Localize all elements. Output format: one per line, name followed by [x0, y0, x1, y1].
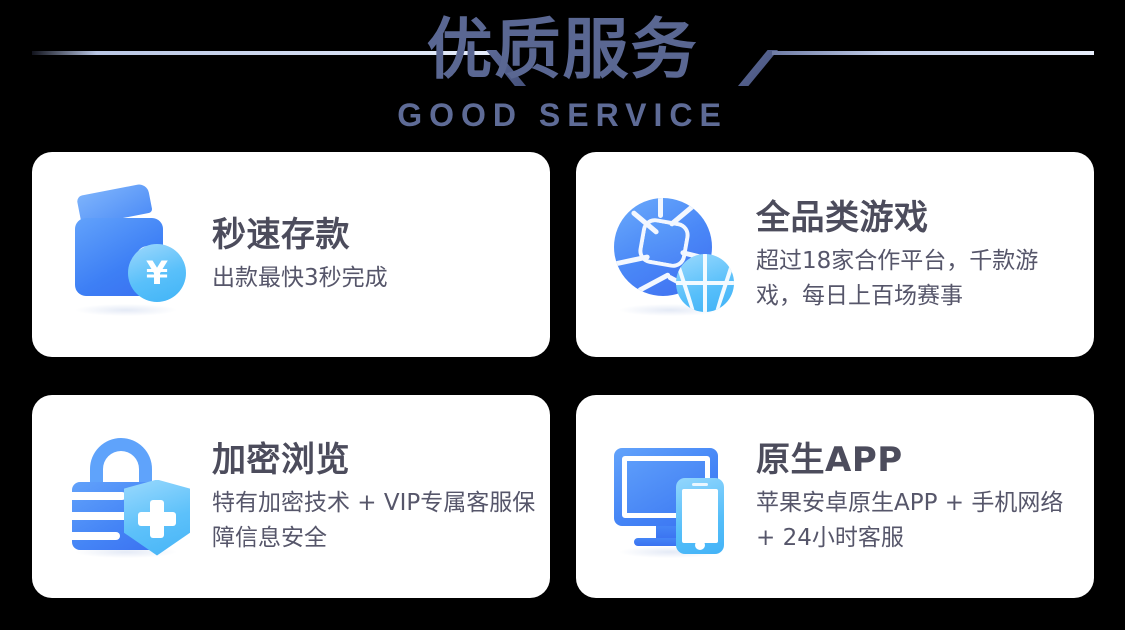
page-header: 优质服务 GOOD SERVICE — [0, 0, 1125, 145]
soccer-seam-icon — [637, 271, 671, 292]
feature-card-deposit[interactable]: ¥ 秒速存款 出款最快3秒完成 — [32, 152, 550, 357]
icon-shadow — [76, 304, 176, 316]
phone-icon — [676, 478, 724, 554]
feature-card-games[interactable]: 全品类游戏 超过18家合作平台，千款游戏，每日上百场赛事 — [576, 152, 1094, 357]
card-text-block: 原生APP 苹果安卓原生APP + 手机网络 + 24小时客服 — [756, 438, 1094, 556]
card-description: 超过18家合作平台，千款游戏，每日上百场赛事 — [756, 244, 1080, 314]
phone-speaker-icon — [692, 483, 708, 486]
soccer-ball-icon — [610, 190, 740, 320]
card-title: 全品类游戏 — [756, 196, 1080, 240]
feature-card-native-app[interactable]: 原生APP 苹果安卓原生APP + 手机网络 + 24小时客服 — [576, 395, 1094, 598]
page-subtitle: GOOD SERVICE — [0, 97, 1125, 133]
cross-icon — [138, 512, 176, 526]
card-text-block: 秒速存款 出款最快3秒完成 — [212, 213, 550, 296]
card-text-block: 加密浏览 特有加密技术 + VIP专属客服保障信息安全 — [212, 438, 550, 556]
basketball-icon — [676, 254, 734, 312]
card-description: 特有加密技术 + VIP专属客服保障信息安全 — [212, 486, 536, 556]
page-root: 优质服务 GOOD SERVICE ¥ 秒速存款 出款最快3秒完成 — [0, 0, 1125, 630]
feature-card-encryption[interactable]: 加密浏览 特有加密技术 + VIP专属客服保障信息安全 — [32, 395, 550, 598]
feature-card-grid: ¥ 秒速存款 出款最快3秒完成 — [32, 152, 1094, 598]
wallet-icon: ¥ — [66, 190, 196, 320]
card-title: 原生APP — [756, 438, 1080, 482]
card-title: 秒速存款 — [212, 213, 536, 257]
lock-shield-icon — [66, 432, 196, 562]
phone-screen-icon — [682, 489, 718, 543]
lock-slot-icon — [72, 492, 126, 500]
card-title: 加密浏览 — [212, 438, 536, 482]
card-text-block: 全品类游戏 超过18家合作平台，千款游戏，每日上百场赛事 — [756, 196, 1094, 314]
soccer-seam-icon — [658, 198, 663, 218]
soccer-seam-icon — [668, 201, 697, 227]
page-title: 优质服务 — [0, 10, 1125, 90]
yen-symbol: ¥ — [146, 257, 168, 289]
phone-home-button-icon — [695, 540, 705, 550]
monitor-phone-icon — [610, 432, 740, 562]
card-description: 苹果安卓原生APP + 手机网络 + 24小时客服 — [756, 486, 1080, 556]
yen-coin-icon: ¥ — [128, 244, 186, 302]
card-description: 出款最快3秒完成 — [212, 261, 536, 296]
soccer-seam-icon — [614, 254, 650, 267]
lock-slot-icon — [72, 532, 120, 540]
